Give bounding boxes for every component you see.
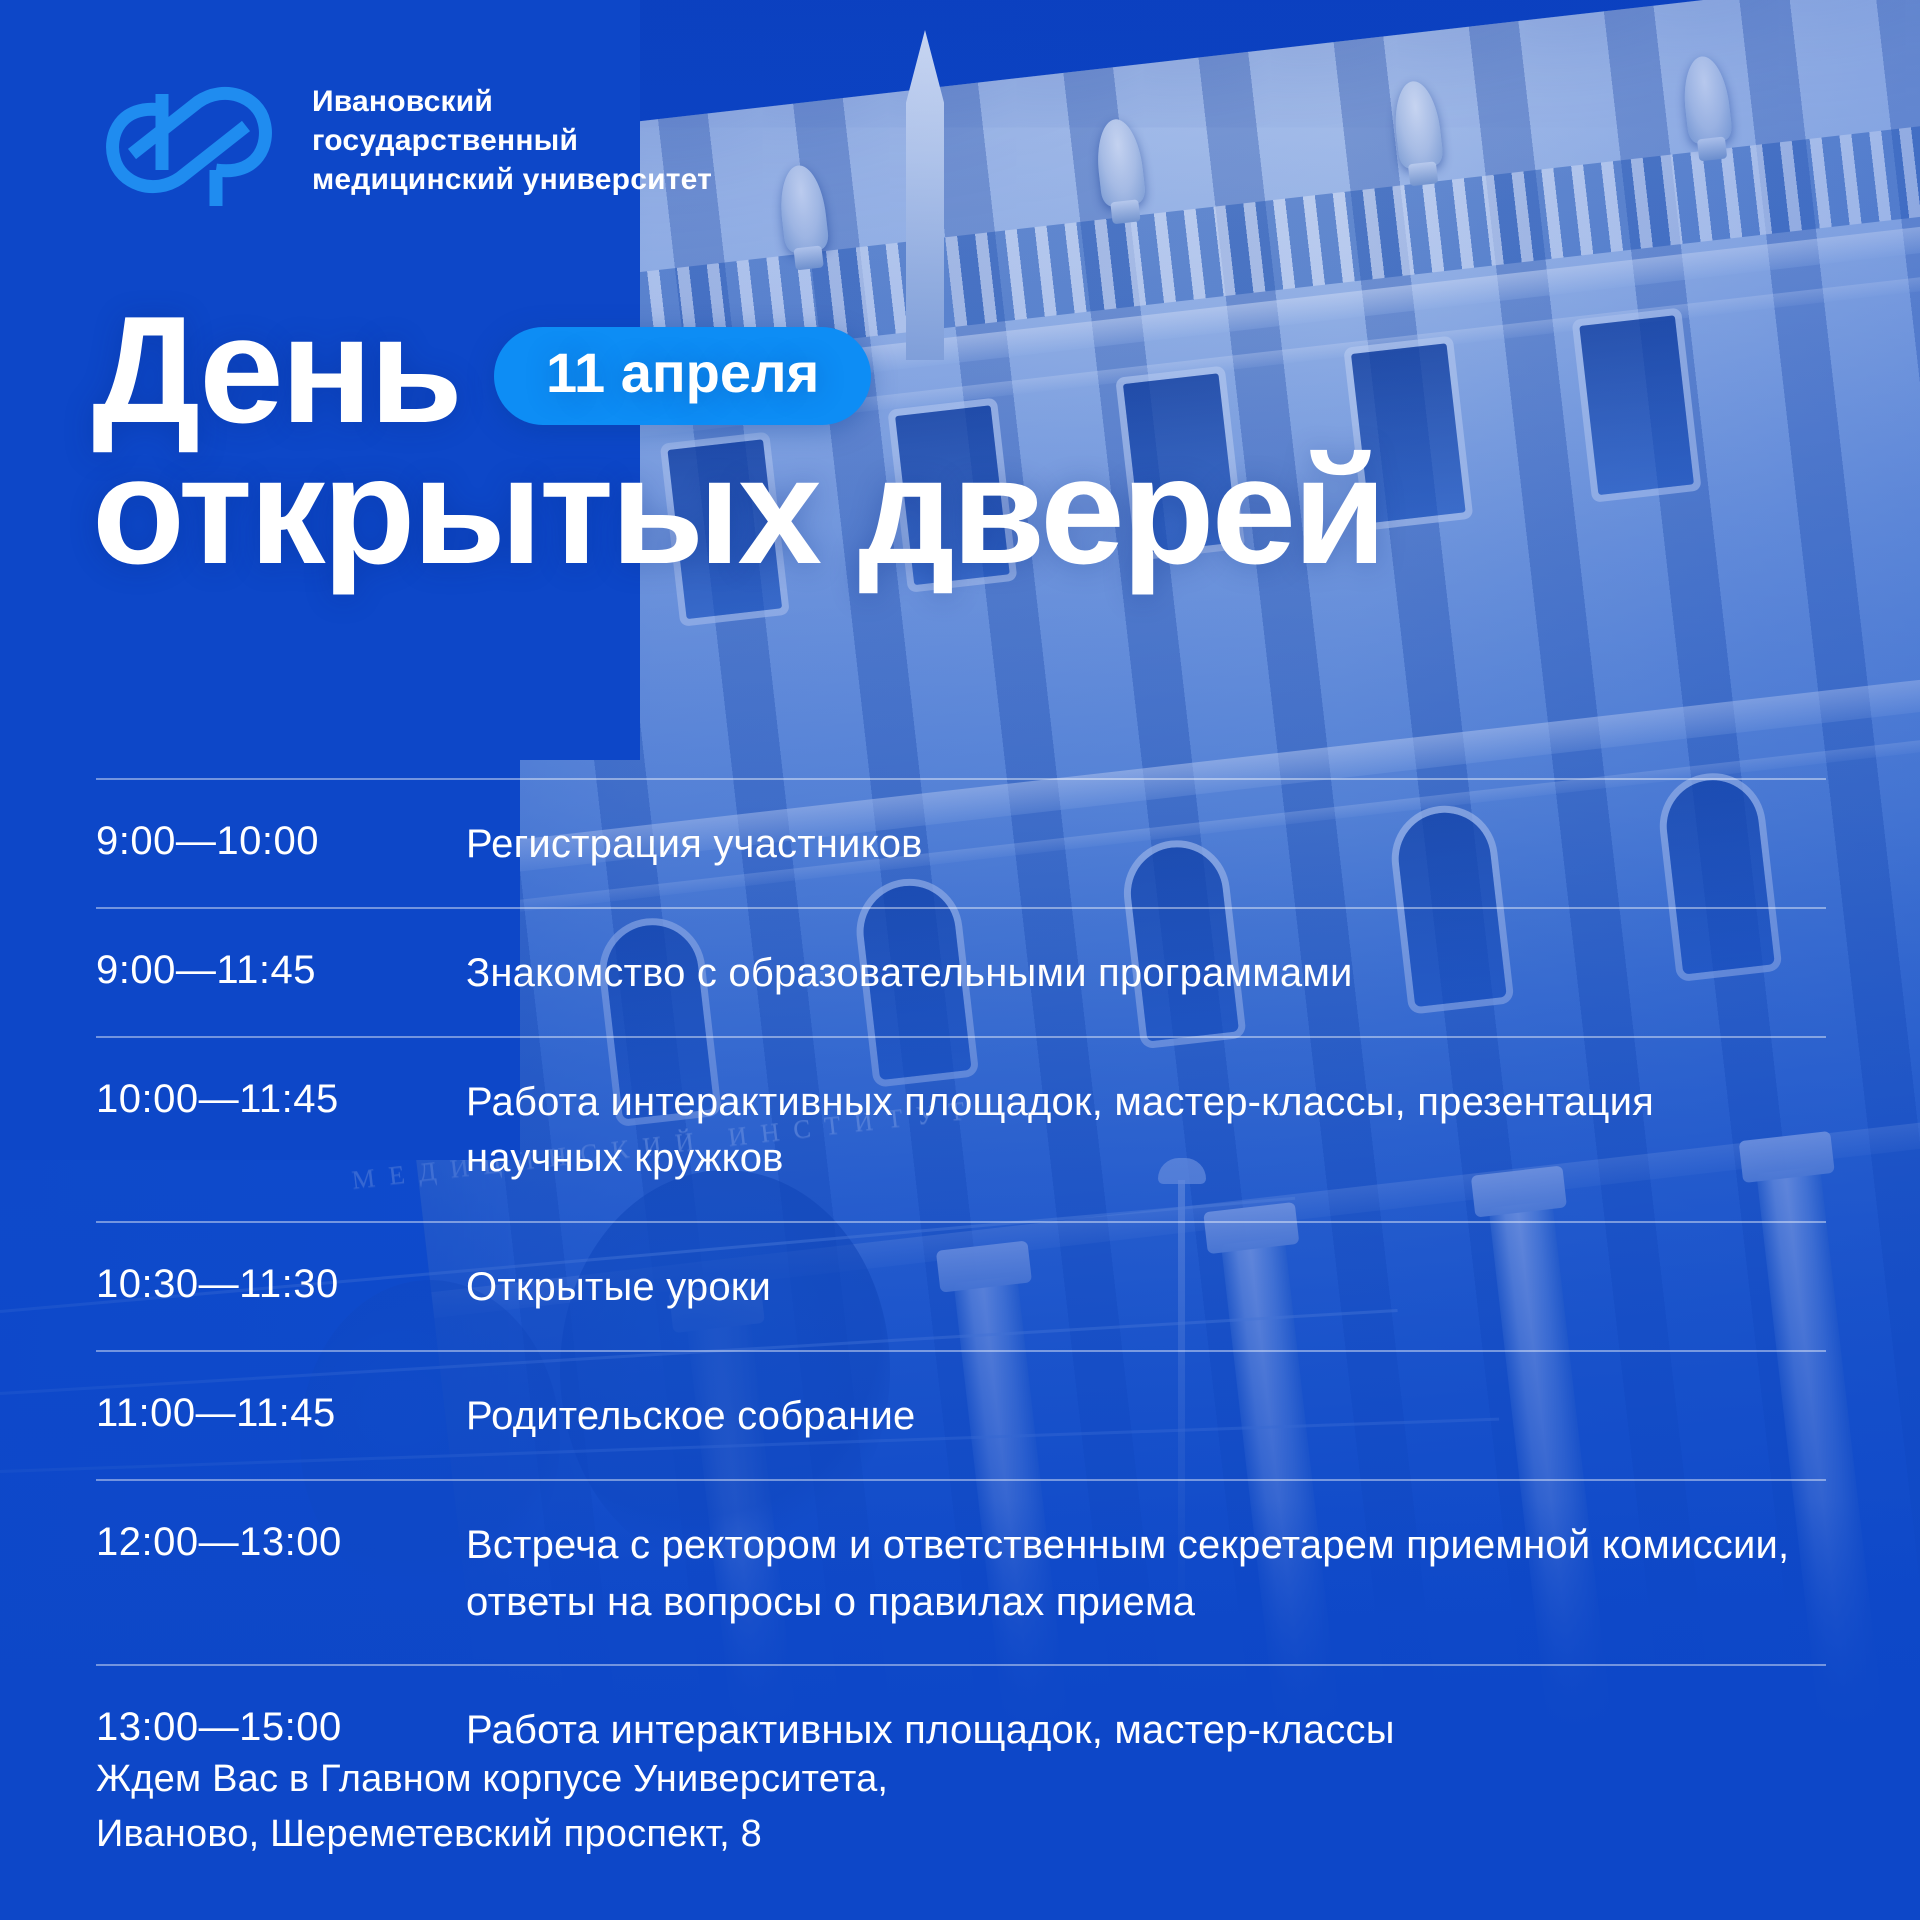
table-row: 9:00—10:00 Регистрация участников	[96, 778, 1826, 907]
schedule-description: Работа интерактивных площадок, мастер-кл…	[466, 1702, 1395, 1759]
brand-name: Ивановский государственный медицинский у…	[312, 82, 712, 199]
brand-name-line-2: государственный	[312, 124, 578, 157]
schedule-description: Встреча с ректором и ответственным секре…	[466, 1517, 1796, 1631]
table-row: 12:00—13:00 Встреча с ректором и ответст…	[96, 1479, 1826, 1665]
schedule-time: 13:00—15:00	[96, 1702, 466, 1753]
headline-line-1-row: День 11 апреля	[92, 300, 1832, 441]
schedule-description: Работа интерактивных площадок, мастер-кл…	[466, 1074, 1796, 1188]
table-row: 10:30—11:30 Открытые уроки	[96, 1221, 1826, 1350]
venue-address-line-2: Иваново, Шереметевский проспект, 8	[96, 1807, 888, 1862]
schedule-time: 10:30—11:30	[96, 1259, 466, 1310]
venue-address: Ждем Вас в Главном корпусе Университета,…	[96, 1752, 888, 1863]
table-row: 10:00—11:45 Работа интерактивных площадо…	[96, 1036, 1826, 1222]
schedule-description: Открытые уроки	[466, 1259, 771, 1316]
brand-name-line-3: медицинский университет	[312, 163, 712, 196]
headline-line-1: День	[92, 300, 460, 441]
poster-root: МЕДИЦИНСКИЙ ИНСТИТУТ	[0, 0, 1920, 1920]
venue-address-line-1: Ждем Вас в Главном корпусе Университета,	[96, 1752, 888, 1807]
schedule-time: 10:00—11:45	[96, 1074, 466, 1125]
table-row: 9:00—11:45 Знакомство с образовательными…	[96, 907, 1826, 1036]
schedule-time: 11:00—11:45	[96, 1388, 466, 1439]
schedule-description: Регистрация участников	[466, 816, 923, 873]
schedule-description: Родительское собрание	[466, 1388, 915, 1445]
headline-line-2: открытых дверей	[92, 441, 1832, 582]
schedule-table: 9:00—10:00 Регистрация участников 9:00—1…	[96, 778, 1826, 1793]
schedule-time: 9:00—10:00	[96, 816, 466, 867]
table-row: 11:00—11:45 Родительское собрание	[96, 1350, 1826, 1479]
schedule-time: 9:00—11:45	[96, 945, 466, 996]
schedule-description: Знакомство с образовательными программам…	[466, 945, 1353, 1002]
schedule-time: 12:00—13:00	[96, 1517, 466, 1568]
brand-lockup: Ивановский государственный медицинский у…	[96, 74, 712, 206]
brand-name-line-1: Ивановский	[312, 85, 493, 118]
date-badge: 11 апреля	[494, 327, 871, 425]
infinity-monogram-icon	[96, 74, 282, 206]
headline-block: День 11 апреля открытых дверей	[92, 300, 1832, 583]
